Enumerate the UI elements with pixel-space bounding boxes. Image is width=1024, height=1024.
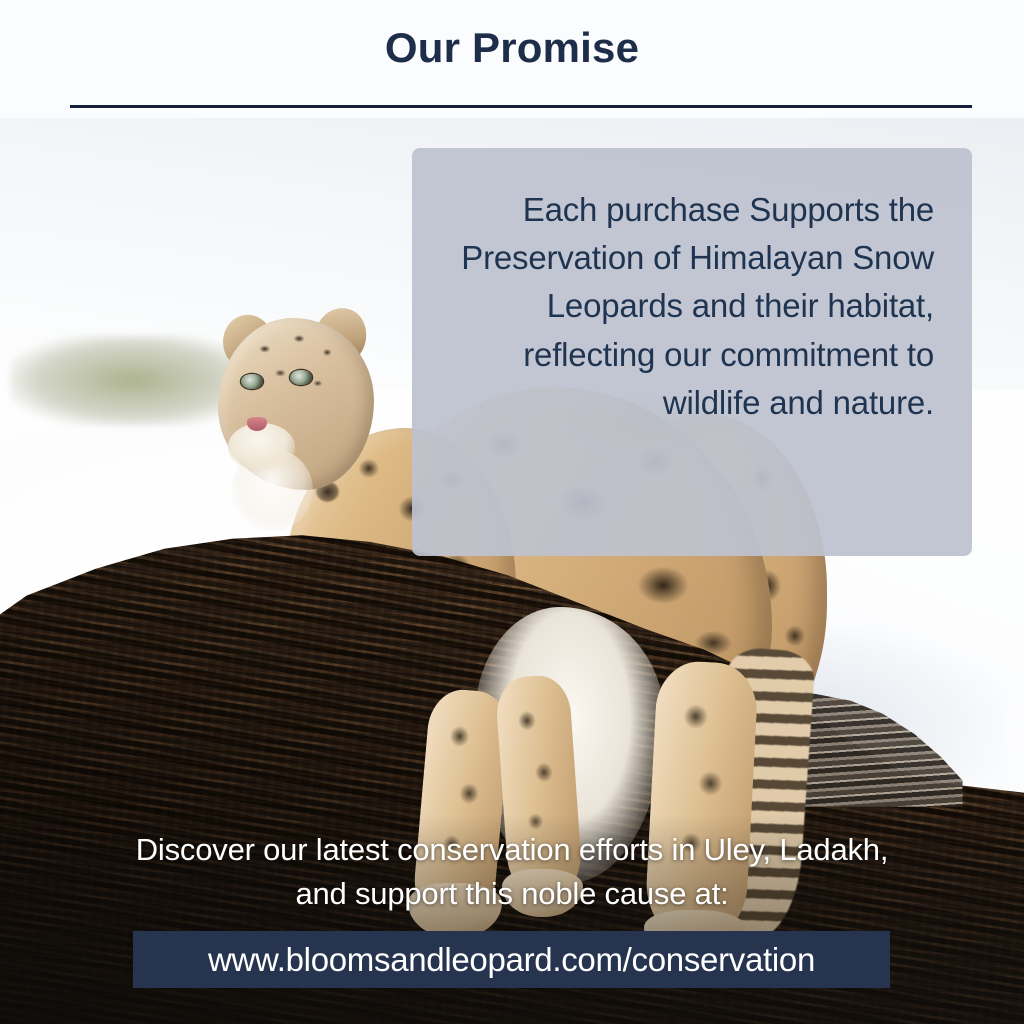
leopard-eye-right [290,370,312,384]
promise-body-text: Each purchase Supports the Preservation … [450,186,934,427]
page-title: Our Promise [0,24,1024,72]
promise-banner: Our Promise Each purchase Supports the P… [0,0,1024,1024]
leopard-eye-left [241,374,263,388]
promise-card: Each purchase Supports the Preservation … [412,148,972,556]
cta-line-2: and support this noble cause at: [0,872,1024,916]
cta-line-1: Discover our latest conservation efforts… [0,828,1024,872]
header: Our Promise [0,0,1024,118]
conservation-url-button[interactable]: www.bloomsandleopard.com/conservation [133,931,890,988]
cta-block: Discover our latest conservation efforts… [0,828,1024,916]
title-divider [70,105,972,108]
conservation-url-label: www.bloomsandleopard.com/conservation [208,941,815,979]
